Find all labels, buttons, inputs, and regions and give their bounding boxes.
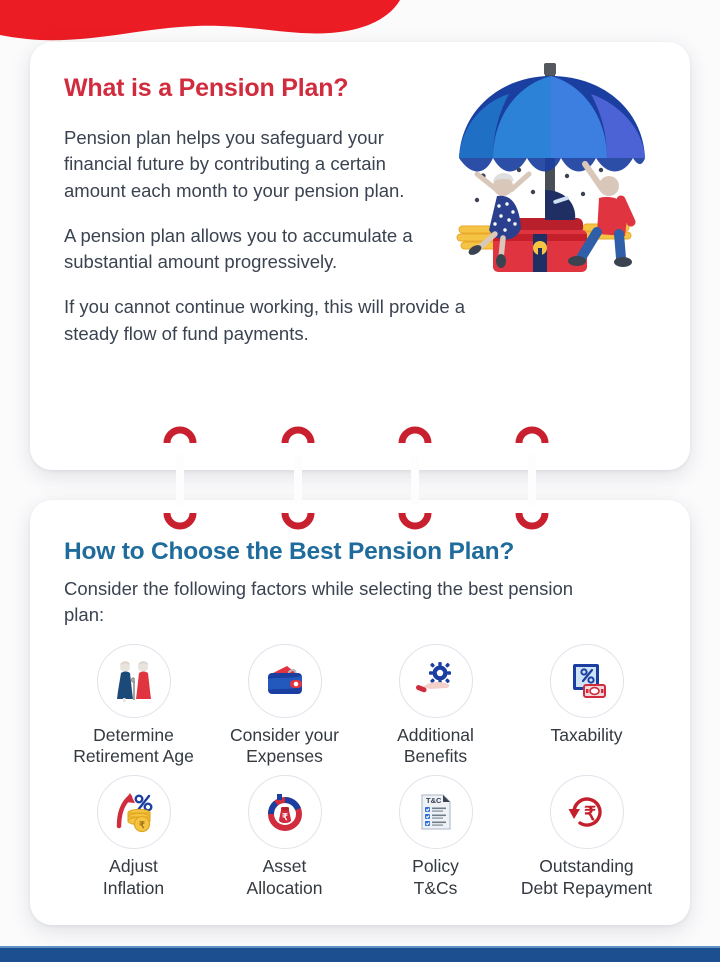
factor-policy-terms[interactable]: T&C [360,775,511,899]
infographic-page: What is a Pension Plan? Pension plan hel… [0,0,720,962]
wallet-icon [248,644,322,718]
factor-label: Consider your Expenses [230,725,339,768]
svg-text:T&C: T&C [426,796,442,805]
about-paragraph-2: A pension plan allows you to accumulate … [64,223,444,276]
factor-label: Adjust Inflation [103,856,164,899]
factor-adjust-inflation[interactable]: ₹ Adjust Inflation [58,775,209,899]
factor-determine-retirement-age[interactable]: Determine Retirement Age [58,644,209,768]
elderly-couple-icon [97,644,171,718]
terms-checklist-icon: T&C [399,775,473,849]
factor-consider-your-expenses[interactable]: Consider your Expenses [209,644,360,768]
about-body: Pension plan helps you safeguard your fi… [64,125,444,347]
svg-text:₹: ₹ [139,820,145,830]
rupee-refresh-debt-icon: ₹ [550,775,624,849]
factor-asset-allocation[interactable]: ₹ Asset Allocation [209,775,360,899]
about-paragraph-3: If you cannot continue working, this wil… [64,294,524,347]
svg-text:₹: ₹ [583,804,595,825]
about-paragraph-1: Pension plan helps you safeguard your fi… [64,125,444,204]
asset-allocation-donut-icon: ₹ [248,775,322,849]
factor-label: Determine Retirement Age [73,725,194,768]
svg-text:₹: ₹ [282,812,288,822]
inflation-arrow-coins-icon: ₹ [97,775,171,849]
card-what-is-pension-plan: What is a Pension Plan? Pension plan hel… [30,42,690,470]
factor-label: Taxability [551,725,623,746]
factor-label: Asset Allocation [247,856,323,899]
umbrella-protection-savings-illustration [441,58,676,273]
factors-grid: Determine Retirement Age Consider your E… [58,644,662,899]
factor-additional-benefits[interactable]: Additional Benefits [360,644,511,768]
factor-outstanding-debt-repayment[interactable]: ₹ Outstanding Debt Repayment [511,775,662,899]
factor-label: Policy T&Cs [412,856,459,899]
section-title-how-to-choose: How to Choose the Best Pension Plan? [64,538,662,566]
factor-label: Additional Benefits [397,725,474,768]
factor-taxability[interactable]: Taxability [511,644,662,768]
factor-label: Outstanding Debt Repayment [521,856,652,899]
card-how-to-choose: How to Choose the Best Pension Plan? Con… [30,500,690,925]
hand-benefit-gear-icon [399,644,473,718]
section-lead-text: Consider the following factors while sel… [64,576,584,628]
tax-document-money-icon [550,644,624,718]
